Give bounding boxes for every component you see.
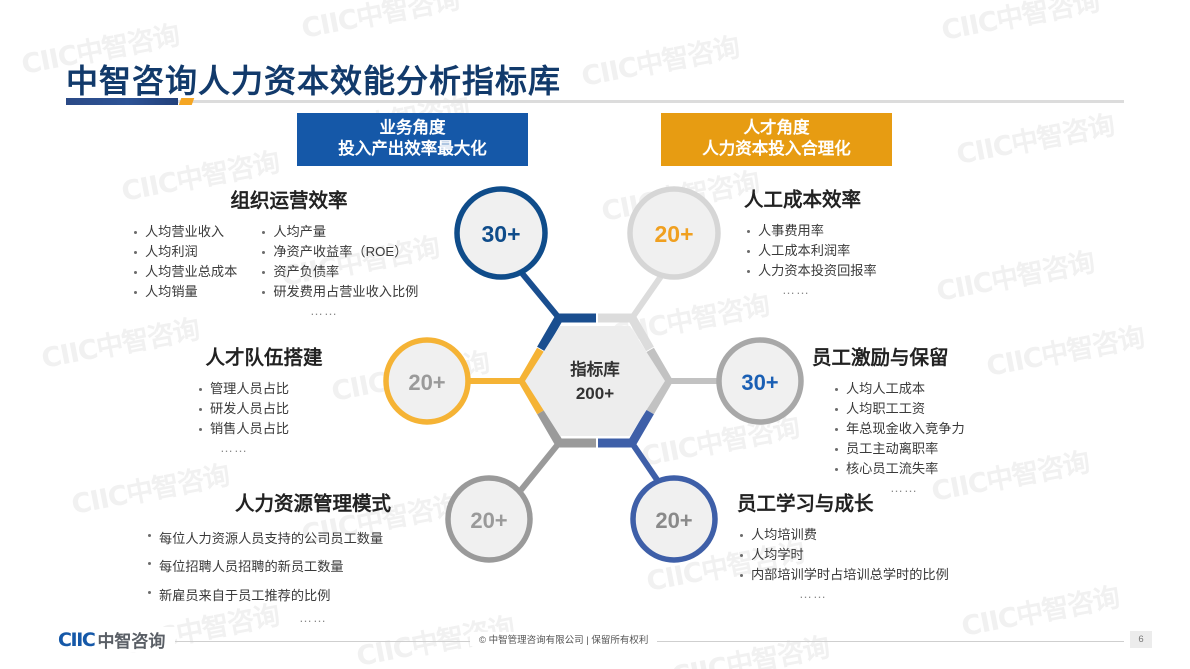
section-hrmode-ellipsis: …… [163, 611, 463, 624]
footer-page-number: 6 [1130, 631, 1152, 648]
badge-business-perspective: 业务角度 投入产出效率最大化 [297, 113, 528, 166]
page-title: 中智咨询人力资本效能分析指标库 [66, 56, 561, 102]
node-org[interactable]: 30+ [457, 189, 545, 277]
section-learn-ellipsis: …… [799, 586, 949, 601]
badge-talent-line1: 人才角度 [661, 118, 892, 139]
section-labor-cost-efficiency: 人工成本效率 人事费用率 人工成本利润率 人力资本投资回报率 …… [744, 183, 877, 297]
node-labor[interactable]: 20+ [630, 189, 718, 277]
node-learn[interactable]: 20+ [633, 478, 715, 560]
footer-copyright: © 中智管理咨询有限公司 | 保留所有权利 [470, 632, 657, 646]
list-item: 内部培训学时占培训总学时的比例 [737, 565, 949, 585]
title-accent-mark [179, 98, 195, 105]
list-item: 新雇员来自于员工推荐的比例 [145, 582, 463, 610]
list-item: 人均营业收入 [131, 222, 237, 242]
node-labor-value: 20+ [654, 221, 693, 247]
section-employee-learning-growth: 员工学习与成长 人均培训费 人均学时 内部培训学时占培训总学时的比例 …… [737, 487, 949, 601]
node-talent-value: 20+ [408, 370, 445, 395]
section-org-operating-efficiency: 组织运营效率 人均营业收入 人均利润 人均营业总成本 人均销量 人均产量 净资产… [131, 184, 439, 318]
footer-logo-cn: 中智咨询 [97, 627, 165, 652]
hexagon-label-line2: 200+ [576, 384, 614, 403]
section-hrmode-list: 每位人力资源人员支持的公司员工数量 每位招聘人员招聘的新员工数量 新雇员来自于员… [145, 525, 463, 610]
node-org-value: 30+ [481, 221, 520, 247]
list-item: 销售人员占比 [196, 419, 358, 439]
section-talent-team-building: 人才队伍搭建 管理人员占比 研发人员占比 销售人员占比 …… [170, 341, 358, 455]
list-item: 人工成本利润率 [744, 241, 877, 261]
list-item: 人事费用率 [744, 221, 877, 241]
list-item: 每位招聘人员招聘的新员工数量 [145, 553, 463, 581]
list-item: 人均利润 [131, 242, 237, 262]
list-item: 人均职工工资 [832, 399, 965, 419]
section-org-heading: 组织运营效率 [139, 184, 439, 213]
section-talent-list: 管理人员占比 研发人员占比 销售人员占比 [196, 379, 358, 439]
section-learn-list: 人均培训费 人均学时 内部培训学时占培训总学时的比例 [737, 525, 949, 585]
section-talent-ellipsis: …… [220, 440, 358, 455]
section-employee-incentive-retention: 员工激励与保留 人均人工成本 人均职工工资 年总现金收入竞争力 员工主动离职率 … [812, 341, 965, 495]
section-labor-list: 人事费用率 人工成本利润率 人力资本投资回报率 [744, 221, 877, 281]
section-labor-ellipsis: …… [782, 282, 877, 297]
section-org-ellipsis: …… [249, 303, 399, 318]
list-item: 人均人工成本 [832, 379, 965, 399]
ciic-logo-icon: CIIC [58, 629, 94, 651]
badge-business-line1: 业务角度 [297, 118, 528, 139]
list-item: 人均销量 [131, 282, 237, 302]
list-item: 研发人员占比 [196, 399, 358, 419]
list-item: 人力资本投资回报率 [744, 261, 877, 281]
list-item: 人均学时 [737, 545, 949, 565]
list-item: 研发费用占营业收入比例 [259, 282, 418, 302]
node-learn-value: 20+ [655, 508, 692, 533]
section-incent-list: 人均人工成本 人均职工工资 年总现金收入竞争力 员工主动离职率 核心员工流失率 [832, 379, 965, 479]
section-org-columns: 人均营业收入 人均利润 人均营业总成本 人均销量 人均产量 净资产收益率（ROE… [131, 222, 439, 302]
list-item: 核心员工流失率 [832, 459, 965, 479]
node-incent-value: 30+ [741, 370, 778, 395]
section-hr-management-model: 人力资源管理模式 每位人力资源人员支持的公司员工数量 每位招聘人员招聘的新员工数… [145, 487, 463, 624]
list-item: 每位人力资源人员支持的公司员工数量 [145, 525, 463, 553]
section-org-list-col1: 人均营业收入 人均利润 人均营业总成本 人均销量 [131, 222, 237, 302]
slide-canvas: CIIC中智咨询 CIIC中智咨询 CIIC中智咨询 CIIC中智咨询 CIIC… [0, 0, 1190, 669]
section-org-list-col2: 人均产量 净资产收益率（ROE） 资产负债率 研发费用占营业收入比例 [259, 222, 418, 302]
list-item: 人均产量 [259, 222, 418, 242]
list-item: 人均培训费 [737, 525, 949, 545]
list-item: 人均营业总成本 [131, 262, 237, 282]
badge-talent-line2: 人力资本投入合理化 [661, 139, 892, 160]
list-item: 年总现金收入竞争力 [832, 419, 965, 439]
badge-business-line2: 投入产出效率最大化 [297, 139, 528, 160]
list-item: 管理人员占比 [196, 379, 358, 399]
node-talent[interactable]: 20+ [386, 340, 468, 422]
section-labor-heading: 人工成本效率 [744, 183, 877, 212]
section-incent-heading: 员工激励与保留 [812, 341, 965, 370]
section-hrmode-heading: 人力资源管理模式 [163, 487, 463, 516]
node-hrmode-value: 20+ [470, 508, 507, 533]
hexagon-label-line1: 指标库 [570, 359, 620, 379]
section-talent-heading: 人才队伍搭建 [170, 341, 358, 370]
list-item: 净资产收益率（ROE） [259, 242, 418, 262]
footer-logo: CIIC 中智咨询 [58, 627, 175, 652]
badge-talent-perspective: 人才角度 人力资本投入合理化 [661, 113, 892, 166]
section-learn-heading: 员工学习与成长 [737, 487, 949, 516]
list-item: 员工主动离职率 [832, 439, 965, 459]
node-incent[interactable]: 30+ [719, 340, 801, 422]
list-item: 资产负债率 [259, 262, 418, 282]
